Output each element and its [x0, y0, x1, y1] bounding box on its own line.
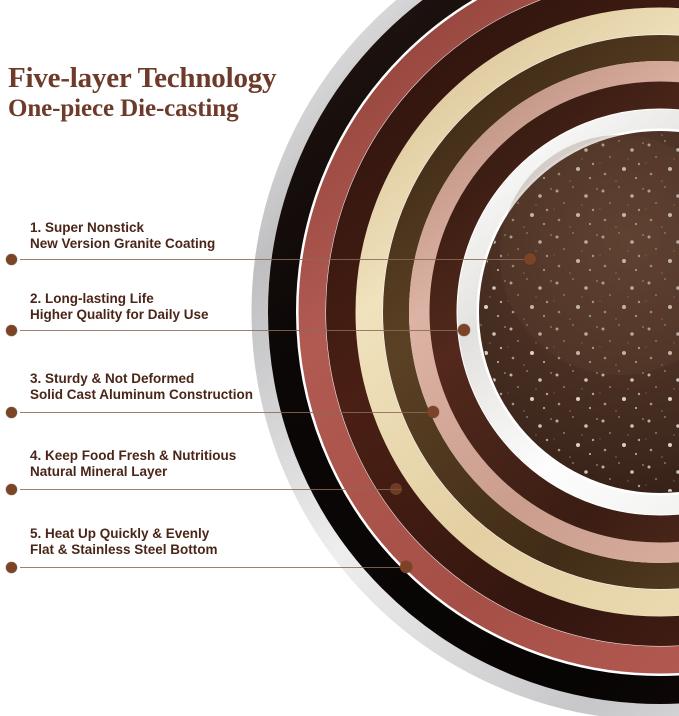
feature-heading-5: 5. Heat Up Quickly & Evenly [30, 526, 218, 542]
feature-callout-5: 5. Heat Up Quickly & EvenlyFlat & Stainl… [0, 0, 679, 716]
feature-subheading-5: Flat & Stainless Steel Bottom [30, 542, 218, 558]
leader-dot-left-5 [6, 562, 17, 573]
five-layer-technology-infographic: Five-layer Technology One-piece Die-cast… [0, 0, 679, 716]
feature-text-5: 5. Heat Up Quickly & EvenlyFlat & Stainl… [30, 526, 218, 558]
leader-dot-right-5 [400, 561, 412, 573]
leader-line-5 [20, 567, 412, 568]
